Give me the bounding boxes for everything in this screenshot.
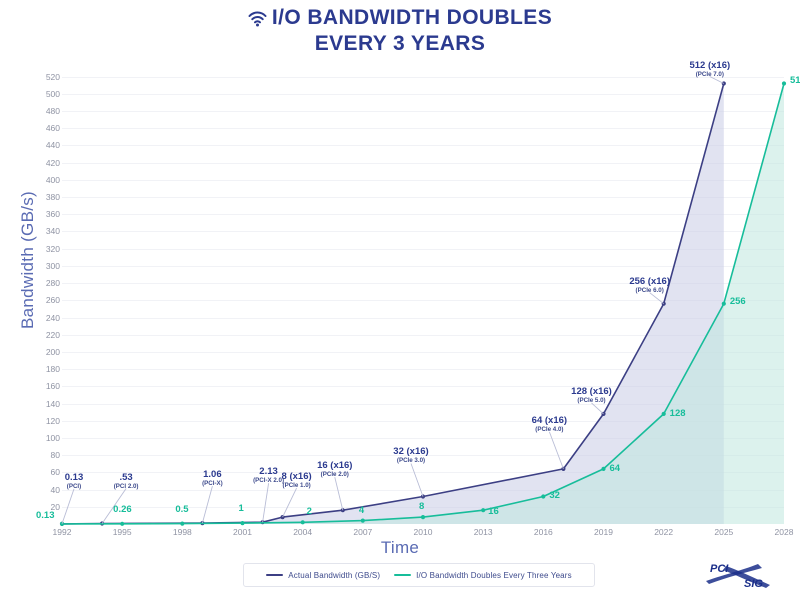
pci-sig-logo: PCI SIG: [700, 560, 778, 590]
actual-data-label: 1.06(PCI-X): [202, 469, 223, 487]
y-tick-label: 400: [20, 175, 60, 185]
title-line-1: I/O BANDWIDTH DOUBLES: [0, 6, 800, 32]
doubling-data-label: 0.13: [36, 510, 55, 521]
callout-leader-line: [283, 488, 297, 517]
doubling-data-label: 4: [359, 505, 364, 516]
doubling-data-label: 128: [670, 408, 686, 419]
y-tick-label: 100: [20, 433, 60, 443]
actual-data-label-value: 64 (x16): [532, 415, 567, 426]
data-point[interactable]: [481, 508, 485, 512]
callout-leader-line: [335, 477, 343, 510]
actual-data-label-spec: (PCI-X): [202, 480, 223, 487]
actual-data-label-value: 1.06: [202, 469, 223, 480]
data-point[interactable]: [782, 81, 786, 85]
callout-leader-line: [650, 293, 664, 304]
y-tick-label: 380: [20, 192, 60, 202]
y-axis-ticks: 2040608010012014016018020022024026028030…: [18, 68, 60, 524]
legend-label-doubling: I/O Bandwidth Doubles Every Three Years: [416, 571, 572, 580]
data-point[interactable]: [240, 521, 244, 525]
actual-data-label-value: 32 (x16): [393, 446, 428, 457]
doubling-data-label: 16: [488, 506, 499, 517]
legend-label-actual: Actual Bandwidth (GB/S): [288, 571, 380, 580]
y-tick-label: 440: [20, 140, 60, 150]
callout-leader-line: [549, 432, 563, 469]
doubling-data-label: 2: [307, 506, 312, 517]
x-tick-label: 2001: [233, 527, 252, 537]
actual-data-label-spec: (PCIe 1.0): [282, 482, 312, 489]
actual-data-label-spec: (PCIe 6.0): [629, 287, 670, 294]
x-tick-label: 2004: [293, 527, 312, 537]
y-tick-label: 40: [20, 485, 60, 495]
y-tick-label: 460: [20, 123, 60, 133]
actual-data-label-spec: (PCI): [65, 483, 84, 490]
chart-legend: Actual Bandwidth (GB/S) I/O Bandwidth Do…: [243, 563, 595, 587]
plot-area: 0.13(PCI).53(PCI 2.0)1.06(PCI-X)2.13(PCI…: [62, 68, 784, 524]
x-tick-label: 1998: [173, 527, 192, 537]
actual-data-label-spec: (PCIe 3.0): [393, 457, 428, 464]
actual-data-label: 64 (x16)(PCIe 4.0): [532, 415, 567, 433]
y-tick-label: 340: [20, 226, 60, 236]
actual-data-label: 512 (x16)(PCIe 7.0): [689, 60, 730, 78]
data-point[interactable]: [180, 522, 184, 526]
actual-data-label: 32 (x16)(PCIe 3.0): [393, 446, 428, 464]
callout-leader-line: [202, 486, 212, 523]
legend-swatch-actual: [266, 574, 283, 577]
logo-text-sig: SIG: [744, 578, 763, 590]
x-tick-label: 2007: [353, 527, 372, 537]
y-tick-label: 240: [20, 313, 60, 323]
callout-leader-line: [592, 403, 604, 414]
actual-data-label: 2.13(PCI-X 2.0): [253, 466, 284, 484]
data-point[interactable]: [541, 494, 545, 498]
title-text-2: EVERY 3 YEARS: [0, 32, 800, 55]
chart-canvas: I/O BANDWIDTH DOUBLES EVERY 3 YEARS Band…: [0, 0, 800, 600]
x-tick-label: 1992: [53, 527, 72, 537]
x-tick-label: 1995: [113, 527, 132, 537]
y-tick-label: 420: [20, 158, 60, 168]
legend-item-doubling[interactable]: I/O Bandwidth Doubles Every Three Years: [394, 571, 572, 580]
wifi-icon: [248, 9, 267, 32]
actual-data-label-value: 0.13: [65, 472, 84, 483]
doubling-data-label: 0.5: [175, 504, 188, 515]
data-point[interactable]: [722, 81, 726, 85]
callout-leader-line: [62, 489, 74, 524]
actual-data-label-spec: (PCIe 4.0): [532, 426, 567, 433]
y-tick-label: 300: [20, 261, 60, 271]
actual-data-label: 8 (x16)(PCIe 1.0): [282, 471, 312, 489]
actual-data-label: 0.13(PCI): [65, 472, 84, 490]
data-point[interactable]: [722, 302, 726, 306]
y-tick-label: 320: [20, 244, 60, 254]
y-tick-label: 120: [20, 416, 60, 426]
legend-swatch-doubling: [394, 574, 411, 577]
y-tick-label: 480: [20, 106, 60, 116]
logo-text-pci: PCI: [710, 563, 729, 575]
y-tick-label: 360: [20, 209, 60, 219]
doubling-data-label: 256: [730, 296, 746, 307]
data-point[interactable]: [601, 467, 605, 471]
doubling-data-label: 64: [610, 463, 621, 474]
y-tick-label: 140: [20, 399, 60, 409]
callout-leader-line: [263, 483, 269, 522]
actual-data-label-spec: (PCIe 7.0): [689, 71, 730, 78]
actual-data-label-spec: (PCI-X 2.0): [253, 477, 284, 484]
actual-data-label-value: .53: [114, 472, 139, 483]
data-point[interactable]: [662, 412, 666, 416]
actual-data-label-spec: (PCIe 2.0): [317, 471, 352, 478]
callout-leader-line: [710, 77, 724, 84]
title-text-1: I/O BANDWIDTH DOUBLES: [272, 6, 552, 29]
doubling-data-label: 8: [419, 501, 424, 512]
data-point[interactable]: [421, 515, 425, 519]
actual-data-label-value: 256 (x16): [629, 276, 670, 287]
chart-title: I/O BANDWIDTH DOUBLES EVERY 3 YEARS: [0, 6, 800, 55]
x-tick-label: 2013: [474, 527, 493, 537]
actual-data-label-value: 16 (x16): [317, 460, 352, 471]
y-tick-label: 500: [20, 89, 60, 99]
doubling-data-label: 32: [549, 490, 560, 501]
actual-data-label: .53(PCI 2.0): [114, 472, 139, 490]
legend-item-actual[interactable]: Actual Bandwidth (GB/S): [266, 571, 380, 580]
actual-data-label: 256 (x16)(PCIe 6.0): [629, 276, 670, 294]
data-point[interactable]: [301, 520, 305, 524]
y-tick-label: 160: [20, 381, 60, 391]
actual-data-label-spec: (PCI 2.0): [114, 483, 139, 490]
x-tick-label: 2022: [654, 527, 673, 537]
actual-data-label: 16 (x16)(PCIe 2.0): [317, 460, 352, 478]
doubling-data-label: 512: [790, 75, 800, 86]
x-axis-title: Time: [0, 538, 800, 558]
y-tick-label: 200: [20, 347, 60, 357]
x-tick-label: 2016: [534, 527, 553, 537]
x-tick-label: 2019: [594, 527, 613, 537]
y-tick-label: 520: [20, 72, 60, 82]
y-tick-label: 80: [20, 450, 60, 460]
y-tick-label: 220: [20, 330, 60, 340]
callout-leader-line: [411, 464, 423, 497]
actual-data-label-value: 512 (x16): [689, 60, 730, 71]
y-tick-label: 280: [20, 278, 60, 288]
y-tick-label: 180: [20, 364, 60, 374]
data-point[interactable]: [561, 467, 565, 471]
x-tick-label: 2010: [414, 527, 433, 537]
data-point[interactable]: [361, 519, 365, 523]
data-point[interactable]: [60, 522, 64, 526]
data-point[interactable]: [120, 522, 124, 526]
y-tick-label: 60: [20, 467, 60, 477]
x-tick-label: 2028: [775, 527, 794, 537]
doubling-data-label: 0.26: [113, 504, 132, 515]
x-tick-label: 2025: [714, 527, 733, 537]
y-tick-label: 260: [20, 295, 60, 305]
actual-data-label-value: 2.13: [253, 466, 284, 477]
actual-data-label: 128 (x16)(PCIe 5.0): [571, 386, 612, 404]
actual-data-label-value: 128 (x16): [571, 386, 612, 397]
actual-data-label-value: 8 (x16): [282, 471, 312, 482]
doubling-data-label: 1: [239, 503, 244, 514]
actual-data-label-spec: (PCIe 5.0): [571, 397, 612, 404]
